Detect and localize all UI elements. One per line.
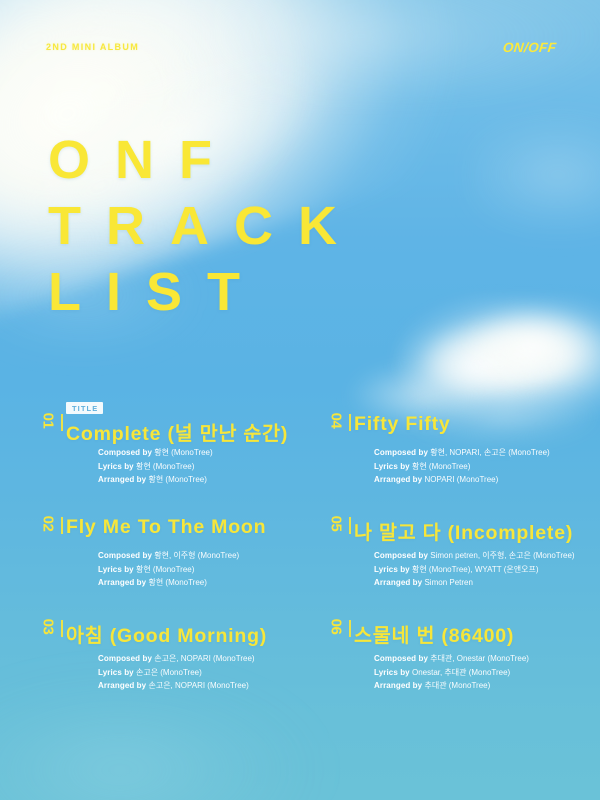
credit-label-arranged: Arranged by [98, 475, 146, 484]
page-title-line-2: TRACK [48, 193, 362, 259]
credit-label-arranged: Arranged by [374, 578, 422, 587]
track-header: 01 TITLE Complete (널 만난 순간) [36, 400, 314, 440]
track-item[interactable]: 01 TITLE Complete (널 만난 순간) Composed by … [36, 400, 314, 503]
credit-label-composed: Composed by [98, 448, 152, 457]
credit-composed: Composed by Simon petren, 이주형, 손고은 (Mono… [374, 549, 575, 563]
track-header: 02 Fly Me To The Moon [36, 503, 314, 543]
track-credits: Composed by 손고은, NOPARI (MonoTree) Lyric… [98, 652, 255, 693]
track-item[interactable]: 06 스물네 번 (86400) Composed by 추대관, Onesta… [324, 606, 600, 709]
track-header: 03 아침 (Good Morning) [36, 606, 314, 646]
track-number-divider [349, 414, 351, 431]
credit-lyrics: Lyrics by 황현 (MonoTree) [374, 460, 550, 474]
cloud-upper-right [470, 110, 600, 240]
track-title: Complete (널 만난 순간) [66, 417, 288, 446]
track-title: 나 말고 다 (Incomplete) [354, 516, 573, 545]
credit-label-lyrics: Lyrics by [374, 668, 410, 677]
album-tag-label: 2ND MINI ALBUM [46, 42, 139, 52]
credit-lyrics: Lyrics by 황현 (MonoTree) [98, 563, 239, 577]
track-number-divider [61, 620, 63, 637]
credit-label-arranged: Arranged by [98, 681, 146, 690]
track-header: 06 스물네 번 (86400) [324, 606, 600, 646]
credit-arranged: Arranged by 황현 (MonoTree) [98, 576, 239, 590]
track-header: 04 Fifty Fifty [324, 400, 600, 440]
track-number-divider [61, 414, 63, 431]
poster-header: 2ND MINI ALBUM ON/OFF [0, 42, 600, 64]
credit-value-composed: 황현 (MonoTree) [154, 448, 212, 457]
credit-label-composed: Composed by [374, 448, 428, 457]
track-credits: Composed by Simon petren, 이주형, 손고은 (Mono… [374, 549, 575, 590]
page-title: ONF TRACK LIST [48, 127, 362, 325]
tracklist: 01 TITLE Complete (널 만난 순간) Composed by … [0, 400, 600, 709]
credit-value-lyrics: 황현 (MonoTree) [136, 565, 194, 574]
track-title: 스물네 번 (86400) [354, 619, 514, 648]
credit-value-composed: 황현, 이주형 (MonoTree) [154, 551, 239, 560]
credit-label-lyrics: Lyrics by [374, 462, 410, 471]
track-title: Fly Me To The Moon [66, 516, 266, 539]
credit-value-lyrics: 황현 (MonoTree) [412, 462, 470, 471]
credit-value-arranged: 추대관 (MonoTree) [424, 681, 490, 690]
track-credits: Composed by 황현, 이주형 (MonoTree) Lyrics by… [98, 549, 239, 590]
credit-value-composed: 황현, NOPARI, 손고은 (MonoTree) [430, 448, 549, 457]
credit-lyrics: Lyrics by 손고은 (MonoTree) [98, 666, 255, 680]
credit-value-lyrics: 황현 (MonoTree), WYATT (온앤오프) [412, 565, 539, 574]
credit-value-arranged: NOPARI (MonoTree) [424, 475, 498, 484]
credit-value-arranged: 황현 (MonoTree) [148, 475, 206, 484]
credit-label-composed: Composed by [374, 654, 428, 663]
credit-lyrics: Lyrics by 황현 (MonoTree), WYATT (온앤오프) [374, 563, 575, 577]
credit-value-arranged: Simon Petren [424, 578, 472, 587]
credit-value-lyrics: 손고은 (MonoTree) [136, 668, 202, 677]
track-credits: Composed by 추대관, Onestar (MonoTree) Lyri… [374, 652, 529, 693]
credit-value-composed: 추대관, Onestar (MonoTree) [430, 654, 529, 663]
title-badge: TITLE [66, 402, 103, 414]
credit-label-lyrics: Lyrics by [98, 462, 134, 471]
track-item[interactable]: 02 Fly Me To The Moon Composed by 황현, 이주… [36, 503, 314, 606]
track-title: Fifty Fifty [354, 413, 451, 436]
credit-label-composed: Composed by [374, 551, 428, 560]
onoff-logo: ON/OFF [502, 40, 557, 55]
credit-label-composed: Composed by [98, 654, 152, 663]
credit-composed: Composed by 추대관, Onestar (MonoTree) [374, 652, 529, 666]
credit-value-composed: 손고은, NOPARI (MonoTree) [154, 654, 254, 663]
credit-composed: Composed by 황현, 이주형 (MonoTree) [98, 549, 239, 563]
credit-composed: Composed by 황현 (MonoTree) [98, 446, 213, 460]
credit-composed: Composed by 황현, NOPARI, 손고은 (MonoTree) [374, 446, 550, 460]
credit-arranged: Arranged by Simon Petren [374, 576, 575, 590]
track-credits: Composed by 황현 (MonoTree) Lyrics by 황현 (… [98, 446, 213, 487]
track-number-divider [349, 517, 351, 534]
page-title-line-3: LIST [48, 259, 362, 325]
track-item[interactable]: 05 나 말고 다 (Incomplete) Composed by Simon… [324, 503, 600, 606]
credit-label-composed: Composed by [98, 551, 152, 560]
credit-arranged: Arranged by 추대관 (MonoTree) [374, 679, 529, 693]
track-number-divider [349, 620, 351, 637]
track-item[interactable]: 04 Fifty Fifty Composed by 황현, NOPARI, 손… [324, 400, 600, 503]
cloud-right-lobe-two [460, 300, 600, 388]
track-number: 04 [328, 409, 345, 433]
credit-arranged: Arranged by 황현 (MonoTree) [98, 473, 213, 487]
credit-arranged: Arranged by 손고은, NOPARI (MonoTree) [98, 679, 255, 693]
track-number: 02 [40, 512, 57, 536]
track-title: 아침 (Good Morning) [66, 619, 267, 648]
credit-label-lyrics: Lyrics by [374, 565, 410, 574]
credit-label-lyrics: Lyrics by [98, 565, 134, 574]
track-credits: Composed by 황현, NOPARI, 손고은 (MonoTree) L… [374, 446, 550, 487]
credit-label-arranged: Arranged by [374, 475, 422, 484]
page-title-line-1: ONF [48, 127, 362, 193]
track-header: 05 나 말고 다 (Incomplete) [324, 503, 600, 543]
credit-composed: Composed by 손고은, NOPARI (MonoTree) [98, 652, 255, 666]
credit-value-arranged: 황현 (MonoTree) [148, 578, 206, 587]
credit-value-composed: Simon petren, 이주형, 손고은 (MonoTree) [430, 551, 574, 560]
credit-label-lyrics: Lyrics by [98, 668, 134, 677]
track-number: 03 [40, 615, 57, 639]
credit-arranged: Arranged by NOPARI (MonoTree) [374, 473, 550, 487]
track-item[interactable]: 03 아침 (Good Morning) Composed by 손고은, NO… [36, 606, 314, 709]
track-number: 05 [328, 512, 345, 536]
credit-lyrics: Lyrics by 황현 (MonoTree) [98, 460, 213, 474]
credit-label-arranged: Arranged by [98, 578, 146, 587]
credit-label-arranged: Arranged by [374, 681, 422, 690]
credit-value-lyrics: 황현 (MonoTree) [136, 462, 194, 471]
credit-value-arranged: 손고은, NOPARI (MonoTree) [148, 681, 248, 690]
album-tracklist-poster: 2ND MINI ALBUM ON/OFF ONF TRACK LIST 01 … [0, 0, 600, 800]
credit-value-lyrics: Onestar, 추대관 (MonoTree) [412, 668, 510, 677]
track-number: 06 [328, 615, 345, 639]
track-number: 01 [40, 409, 57, 433]
track-number-divider [61, 517, 63, 534]
credit-lyrics: Lyrics by Onestar, 추대관 (MonoTree) [374, 666, 529, 680]
